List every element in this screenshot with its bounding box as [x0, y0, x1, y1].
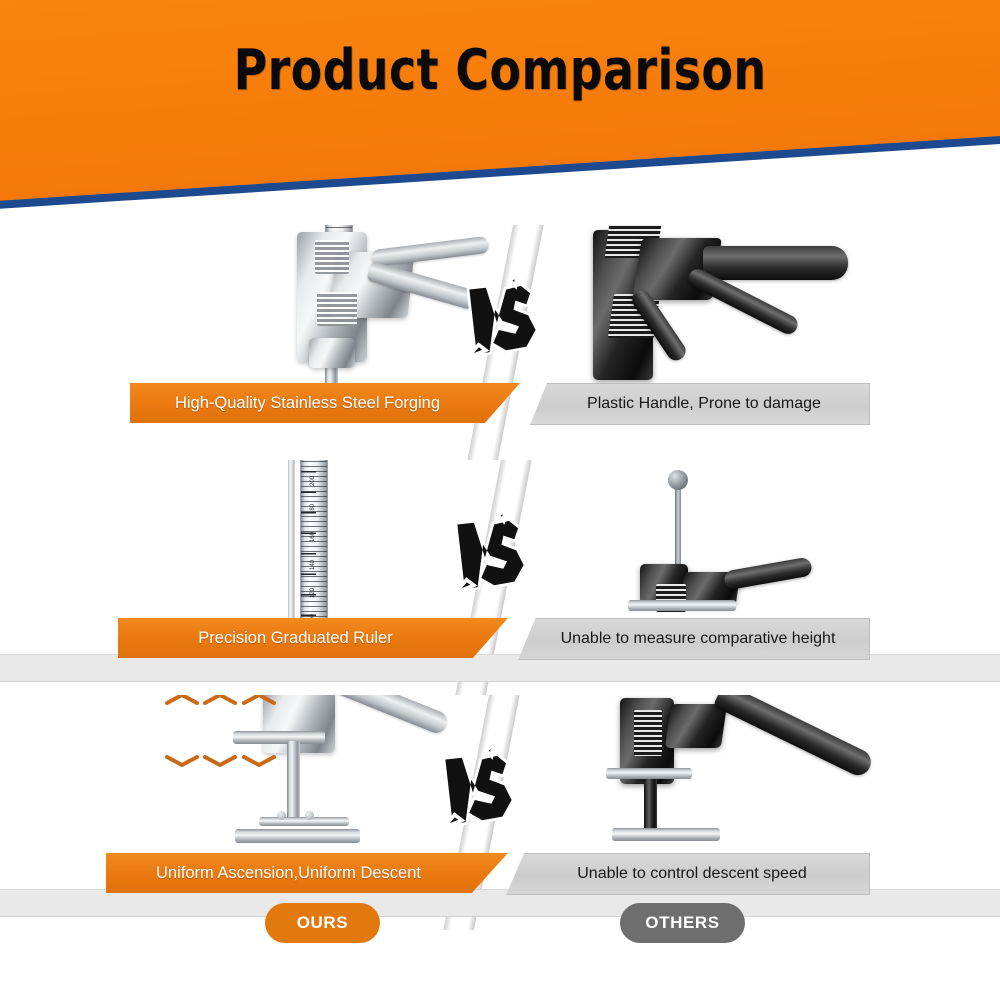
- comparison-body: High-Quality Stainless Steel Forging Pla…: [0, 225, 1000, 1000]
- product-image-ours-2: 200 180 160 140 120 100: [290, 460, 360, 632]
- ours-pill: OURS: [265, 903, 380, 943]
- vs-badge-1: [462, 273, 554, 365]
- competitor-jack-spring: [634, 710, 662, 756]
- chevron-up-icon: [203, 695, 237, 705]
- feature-bar-others-3: Unable to control descent speed: [506, 853, 870, 895]
- feature-bar-ours-3: Uniform Ascension,Uniform Descent: [106, 853, 508, 893]
- descend-chevrons-group: [165, 755, 276, 775]
- ours-pill-label: OURS: [297, 913, 349, 933]
- product-image-others-1: [575, 225, 860, 400]
- feature-bar-ours-1: High-Quality Stainless Steel Forging: [130, 383, 520, 423]
- chevron-up-icon: [242, 695, 276, 705]
- feature-label-ours-3: Uniform Ascension,Uniform Descent: [106, 864, 471, 883]
- jack-bolt: [305, 811, 314, 820]
- competitor-jack-upper-plate: [606, 768, 692, 779]
- ascend-chevrons-group: [165, 695, 276, 713]
- ruler-number: 200: [310, 476, 316, 486]
- chevron-down-icon: [242, 755, 276, 767]
- graduated-ruler: 200 180 160 140 120 100: [300, 460, 328, 624]
- ruler-number: 140: [310, 560, 316, 570]
- ruler-edge-rail: [288, 460, 295, 624]
- tool-spring-top: [315, 240, 349, 274]
- vs-badge-2: [450, 508, 542, 600]
- feature-label-ours-2: Precision Graduated Ruler: [118, 629, 473, 648]
- vs-badge-3: [438, 743, 530, 835]
- tool-upper-jaw: [370, 236, 489, 267]
- jack-mid-plate: [259, 817, 349, 826]
- jack-lever-handle: [324, 695, 451, 736]
- feature-bar-others-1: Plastic Handle, Prone to damage: [530, 383, 870, 425]
- page-title: Product Comparison: [90, 38, 910, 103]
- ruler-number: 120: [310, 588, 316, 598]
- tool-base-block: [309, 338, 355, 368]
- tool-spring-bottom: [317, 292, 357, 326]
- product-image-others-3: [600, 695, 885, 870]
- chevron-down-icon: [165, 755, 199, 767]
- others-pill: OTHERS: [620, 903, 745, 943]
- competitor-base-plate-2: [628, 600, 736, 611]
- comparison-row-1: High-Quality Stainless Steel Forging Pla…: [0, 225, 1000, 460]
- feature-label-ours-1: High-Quality Stainless Steel Forging: [130, 394, 485, 413]
- competitor-jack-handle: [713, 695, 875, 780]
- chevron-up-icon: [165, 695, 199, 705]
- product-image-others-2: [620, 480, 860, 630]
- feature-label-others-2: Unable to measure comparative height: [519, 630, 869, 648]
- jack-base-plate: [235, 829, 360, 843]
- product-image-ours-3: [225, 695, 465, 863]
- feature-label-others-1: Plastic Handle, Prone to damage: [531, 395, 869, 413]
- product-comparison-infographic: Product Comparison: [0, 0, 1000, 1000]
- header-banner: Product Comparison: [0, 0, 1000, 225]
- feature-bar-others-2: Unable to measure comparative height: [518, 618, 870, 660]
- competitor-jack-head: [665, 704, 727, 748]
- jack-bolt: [277, 811, 286, 820]
- ruler-number: 160: [310, 532, 316, 542]
- jack-vertical-shaft: [287, 741, 300, 823]
- competitor-plastic-handle: [703, 246, 848, 280]
- competitor-knob: [668, 470, 688, 490]
- competitor-jack-base-plate: [612, 828, 720, 841]
- others-pill-label: OTHERS: [645, 913, 719, 933]
- feature-label-others-3: Unable to control descent speed: [507, 865, 869, 883]
- competitor-handle-2: [723, 557, 813, 591]
- competitor-thin-rod: [675, 480, 681, 570]
- product-image-ours-1: [275, 225, 490, 405]
- jack-upper-plate: [233, 731, 325, 744]
- feature-bar-ours-2: Precision Graduated Ruler: [118, 618, 508, 658]
- competitor-jack-shaft: [644, 778, 657, 832]
- chevron-down-icon: [203, 755, 237, 767]
- ruler-number: 180: [310, 504, 316, 514]
